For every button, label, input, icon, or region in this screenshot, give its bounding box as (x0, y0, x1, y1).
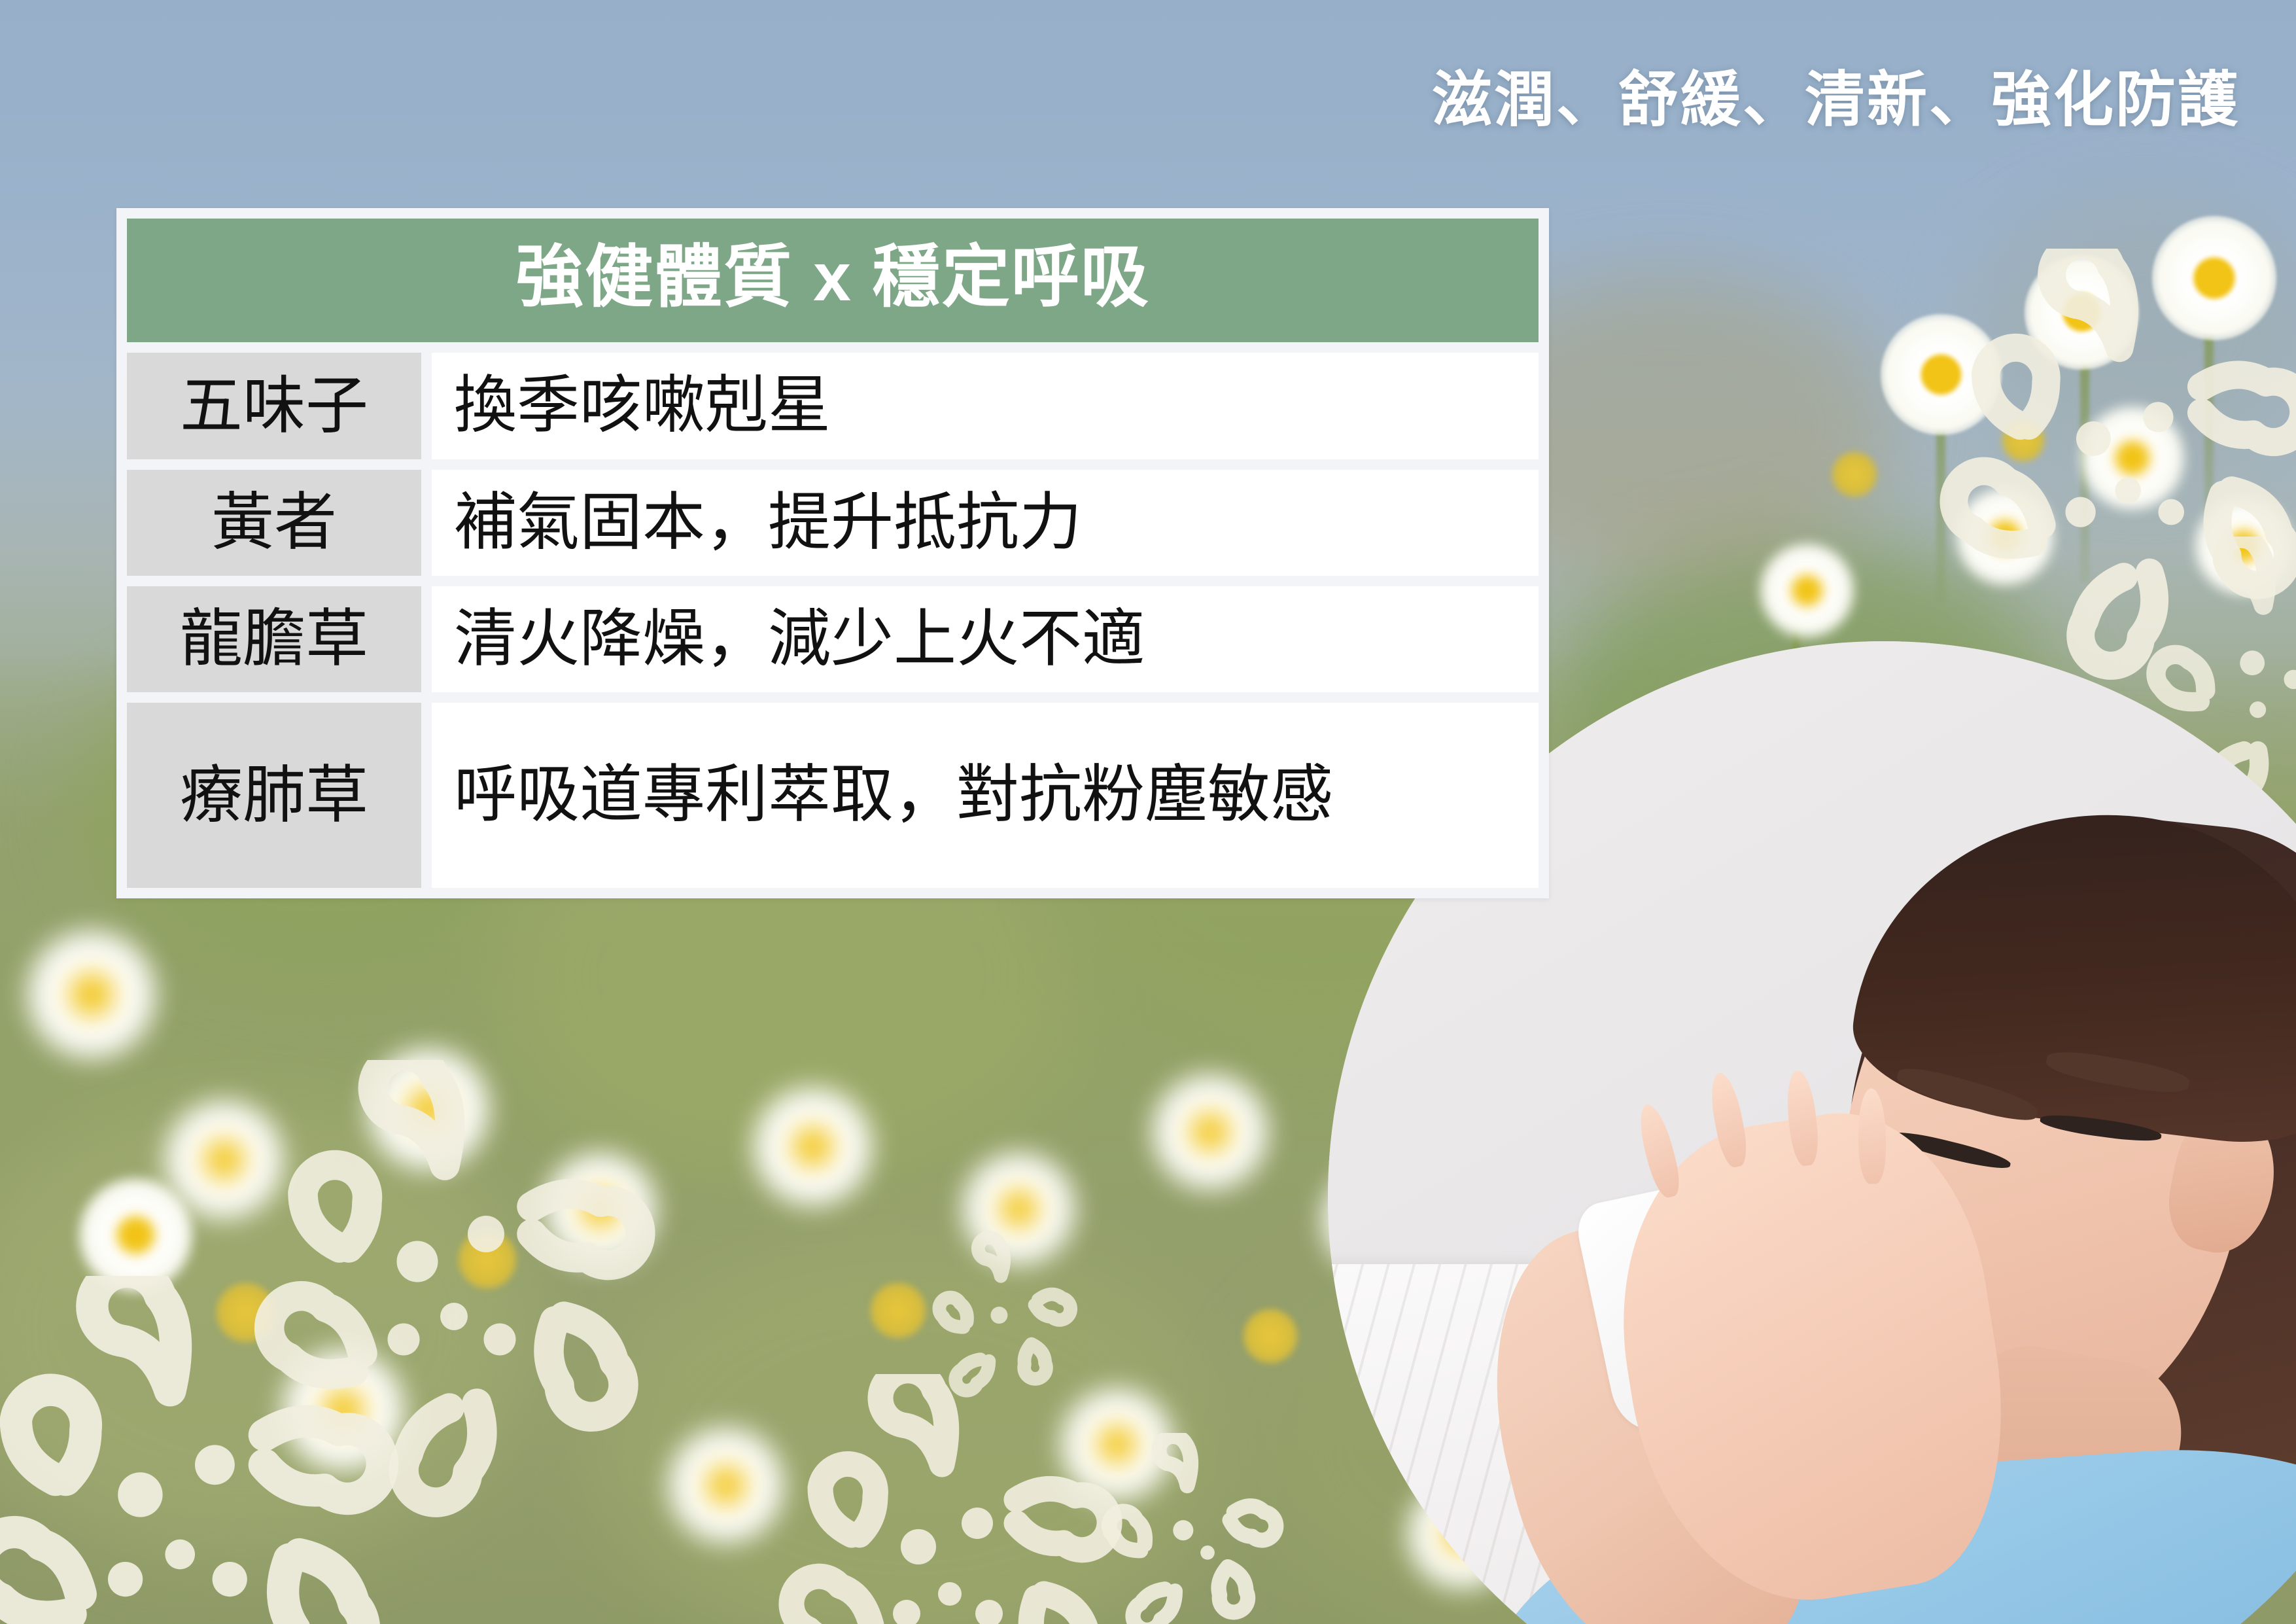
ingredient-name: 黃者 (127, 470, 421, 576)
germ-icon (1086, 1433, 1289, 1624)
tagline: 滋潤、舒緩、清新、強化防護 (1432, 51, 2240, 138)
ingredient-name: 五味子 (127, 353, 421, 459)
ingredient-benefit: 清火降燥，減少上火不適 (432, 586, 1539, 692)
table-row: 黃者 補氣固本，提升抵抗力 (127, 470, 1539, 576)
germ-icon (746, 1374, 1138, 1624)
ingredient-benefit: 換季咳嗽剋星 (432, 353, 1539, 459)
slide-canvas: 滋潤、舒緩、清新、強化防護 強健體質 x 穩定呼吸 五味子 換季咳嗽剋星 黃者 … (0, 0, 2296, 1624)
germ-icon (0, 1276, 419, 1624)
flower-bud (1243, 1309, 1298, 1364)
ingredient-name: 龍膽草 (127, 586, 421, 692)
table-row: 龍膽草 清火降燥，減少上火不適 (127, 586, 1539, 692)
table-row: 五味子 換季咳嗽剋星 (127, 353, 1539, 459)
daisy-flower (1151, 1073, 1269, 1191)
flower-bud (1832, 451, 1877, 497)
daisy-flower (752, 1086, 873, 1207)
daisy-flower (1760, 543, 1854, 638)
finger (1633, 1101, 1684, 1200)
daisy-flower (26, 929, 157, 1060)
finger (1706, 1070, 1751, 1170)
table-header-title: 強健體質 x 穩定呼吸 (127, 219, 1539, 342)
table-row: 療肺草 呼吸道專利萃取，對抗粉塵敏感 (127, 703, 1539, 887)
germ-icon (916, 1230, 1086, 1400)
ingredient-name: 療肺草 (127, 703, 421, 887)
ingredient-benefit: 呼吸道專利萃取，對抗粉塵敏感 (432, 703, 1539, 887)
daisy-flower (78, 1178, 193, 1292)
ingredient-benefit: 補氣固本，提升抵抗力 (432, 470, 1539, 576)
finger (1784, 1069, 1821, 1167)
ingredient-table: 強健體質 x 穩定呼吸 五味子 換季咳嗽剋星 黃者 補氣固本，提升抵抗力 龍膽草… (116, 208, 1549, 898)
